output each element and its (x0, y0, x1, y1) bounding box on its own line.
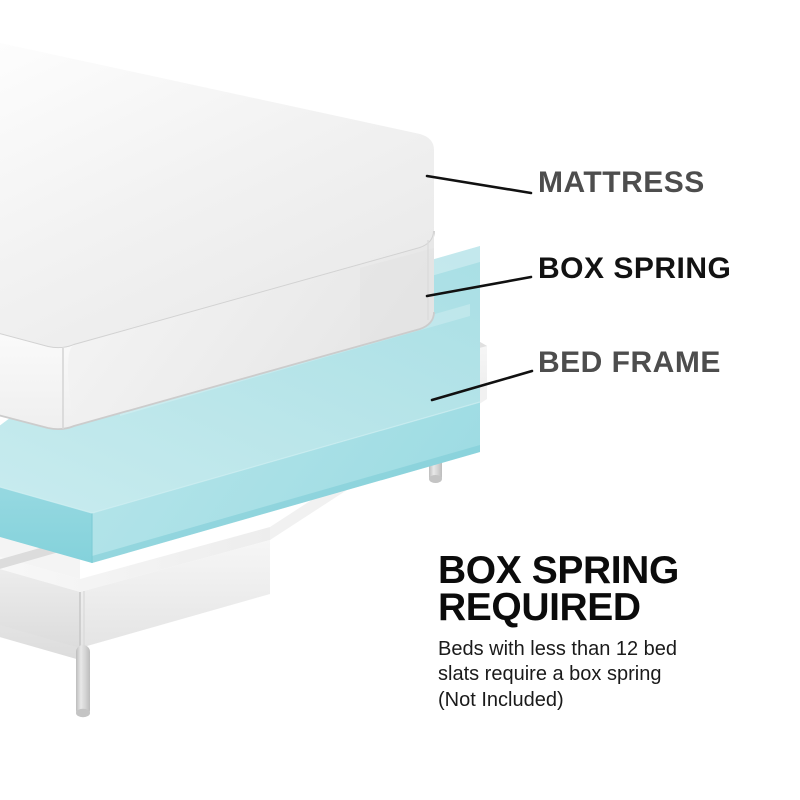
callout-label-mattress: MATTRESS (538, 168, 705, 198)
leader-line-mattress (427, 176, 531, 193)
callout-label-box-spring: BOX SPRING (538, 254, 731, 284)
notice-body: Beds with less than 12 bed slats require… (438, 637, 788, 714)
frame-leg-left (76, 645, 90, 717)
box-spring-required-notice: BOX SPRING REQUIRED Beds with less than … (438, 552, 788, 714)
callout-label-bed-frame: BED FRAME (538, 348, 721, 378)
notice-title: BOX SPRING REQUIRED (438, 552, 788, 627)
diagram-canvas: MATTRESS BOX SPRING BED FRAME BOX SPRING… (0, 0, 800, 800)
